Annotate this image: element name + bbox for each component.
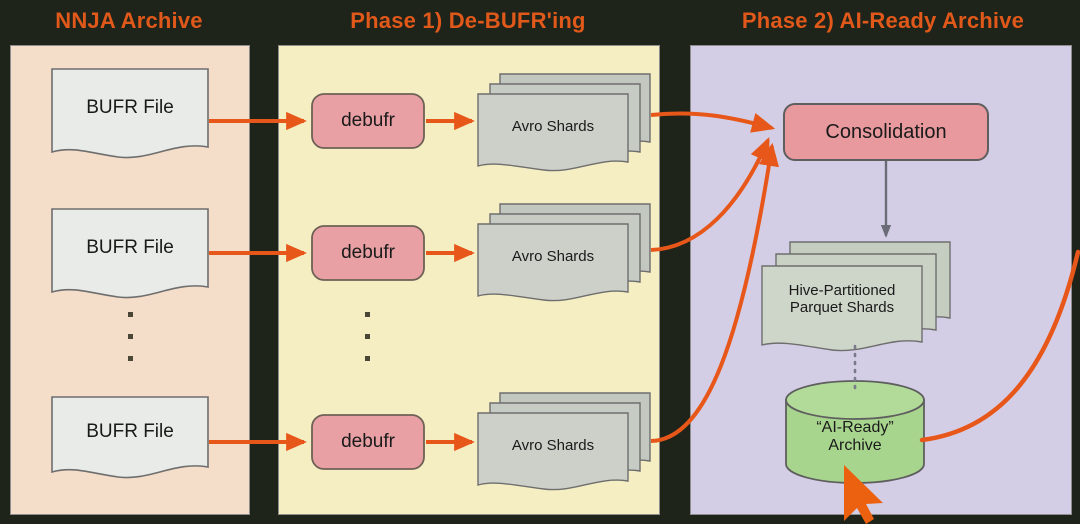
ellipsis-phase-1 <box>365 312 370 361</box>
ellipsis-dot <box>128 312 133 317</box>
column-title-nnja-archive: NNJA Archive <box>0 8 258 34</box>
panel-phase-1 <box>278 45 660 515</box>
ellipsis-nnja-archive <box>128 312 133 361</box>
panel-nnja-archive <box>10 45 250 515</box>
column-title-phase-1-debufring: Phase 1) De-BUFR'ing <box>268 8 668 34</box>
ellipsis-dot <box>128 356 133 361</box>
ellipsis-dot <box>365 312 370 317</box>
ellipsis-dot <box>128 334 133 339</box>
panel-phase-2 <box>690 45 1072 515</box>
diagram-canvas: NNJA Archive Phase 1) De-BUFR'ing Phase … <box>0 0 1080 524</box>
ellipsis-dot <box>365 356 370 361</box>
ellipsis-dot <box>365 334 370 339</box>
column-title-phase-2-ai-ready-archive: Phase 2) AI-Ready Archive <box>686 8 1080 34</box>
